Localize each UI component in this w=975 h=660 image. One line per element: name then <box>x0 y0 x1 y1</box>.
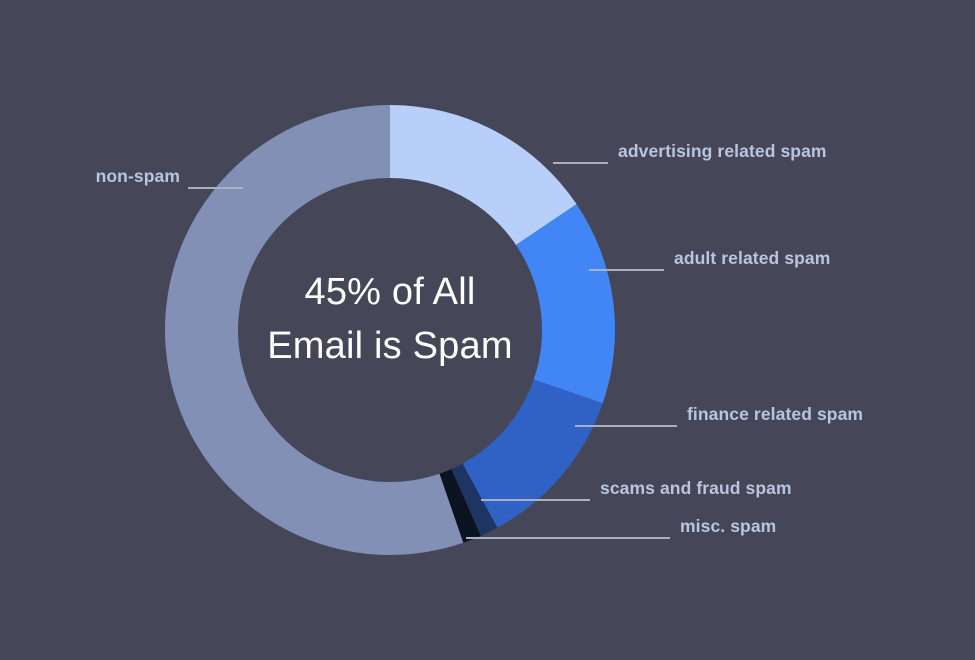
slice-label-misc-spam: misc. spam <box>680 516 776 537</box>
slice-label-advertising-related-spam: advertising related spam <box>618 141 827 162</box>
slice-label-scams-and-fraud-spam: scams and fraud spam <box>600 478 792 499</box>
slice-label-non-spam: non-spam <box>0 166 180 187</box>
slice-label-adult-related-spam: adult related spam <box>674 248 830 269</box>
donut-slices <box>165 105 615 555</box>
donut-chart <box>0 0 975 660</box>
slice-label-finance-related-spam: finance related spam <box>687 404 863 425</box>
spam-donut-infographic: 45% of All Email is Spam advertising rel… <box>0 0 975 660</box>
